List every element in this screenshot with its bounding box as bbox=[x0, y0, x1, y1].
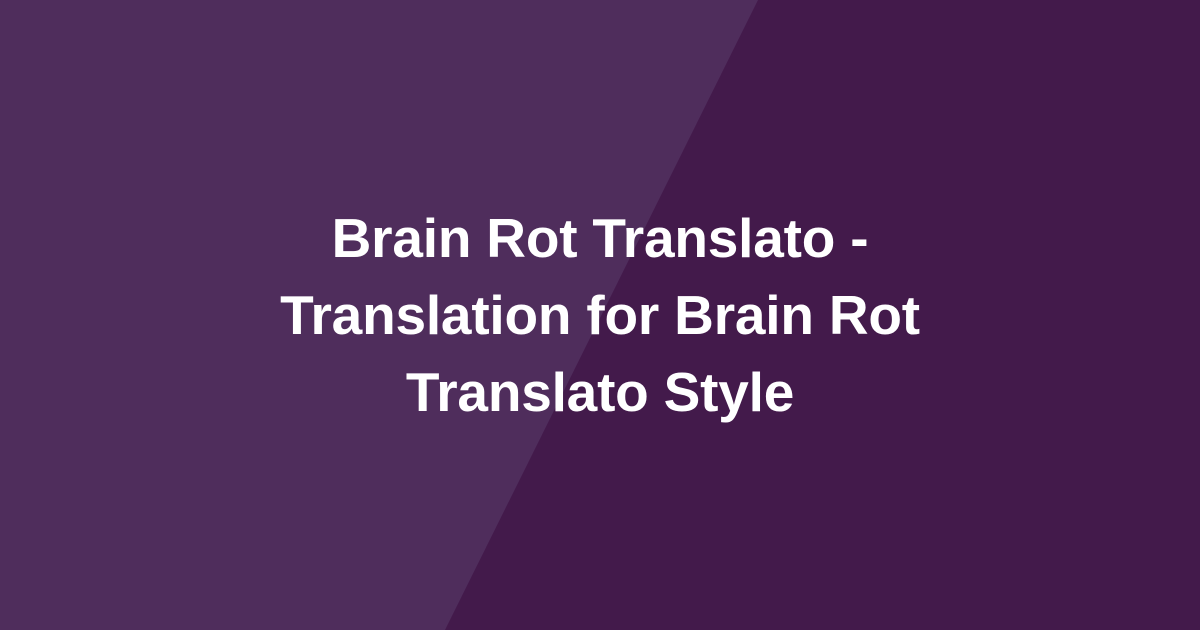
title-container: Brain Rot Translato - Translation for Br… bbox=[0, 0, 1200, 630]
page-title: Brain Rot Translato - Translation for Br… bbox=[220, 200, 980, 431]
og-banner-card: Brain Rot Translato - Translation for Br… bbox=[0, 0, 1200, 630]
